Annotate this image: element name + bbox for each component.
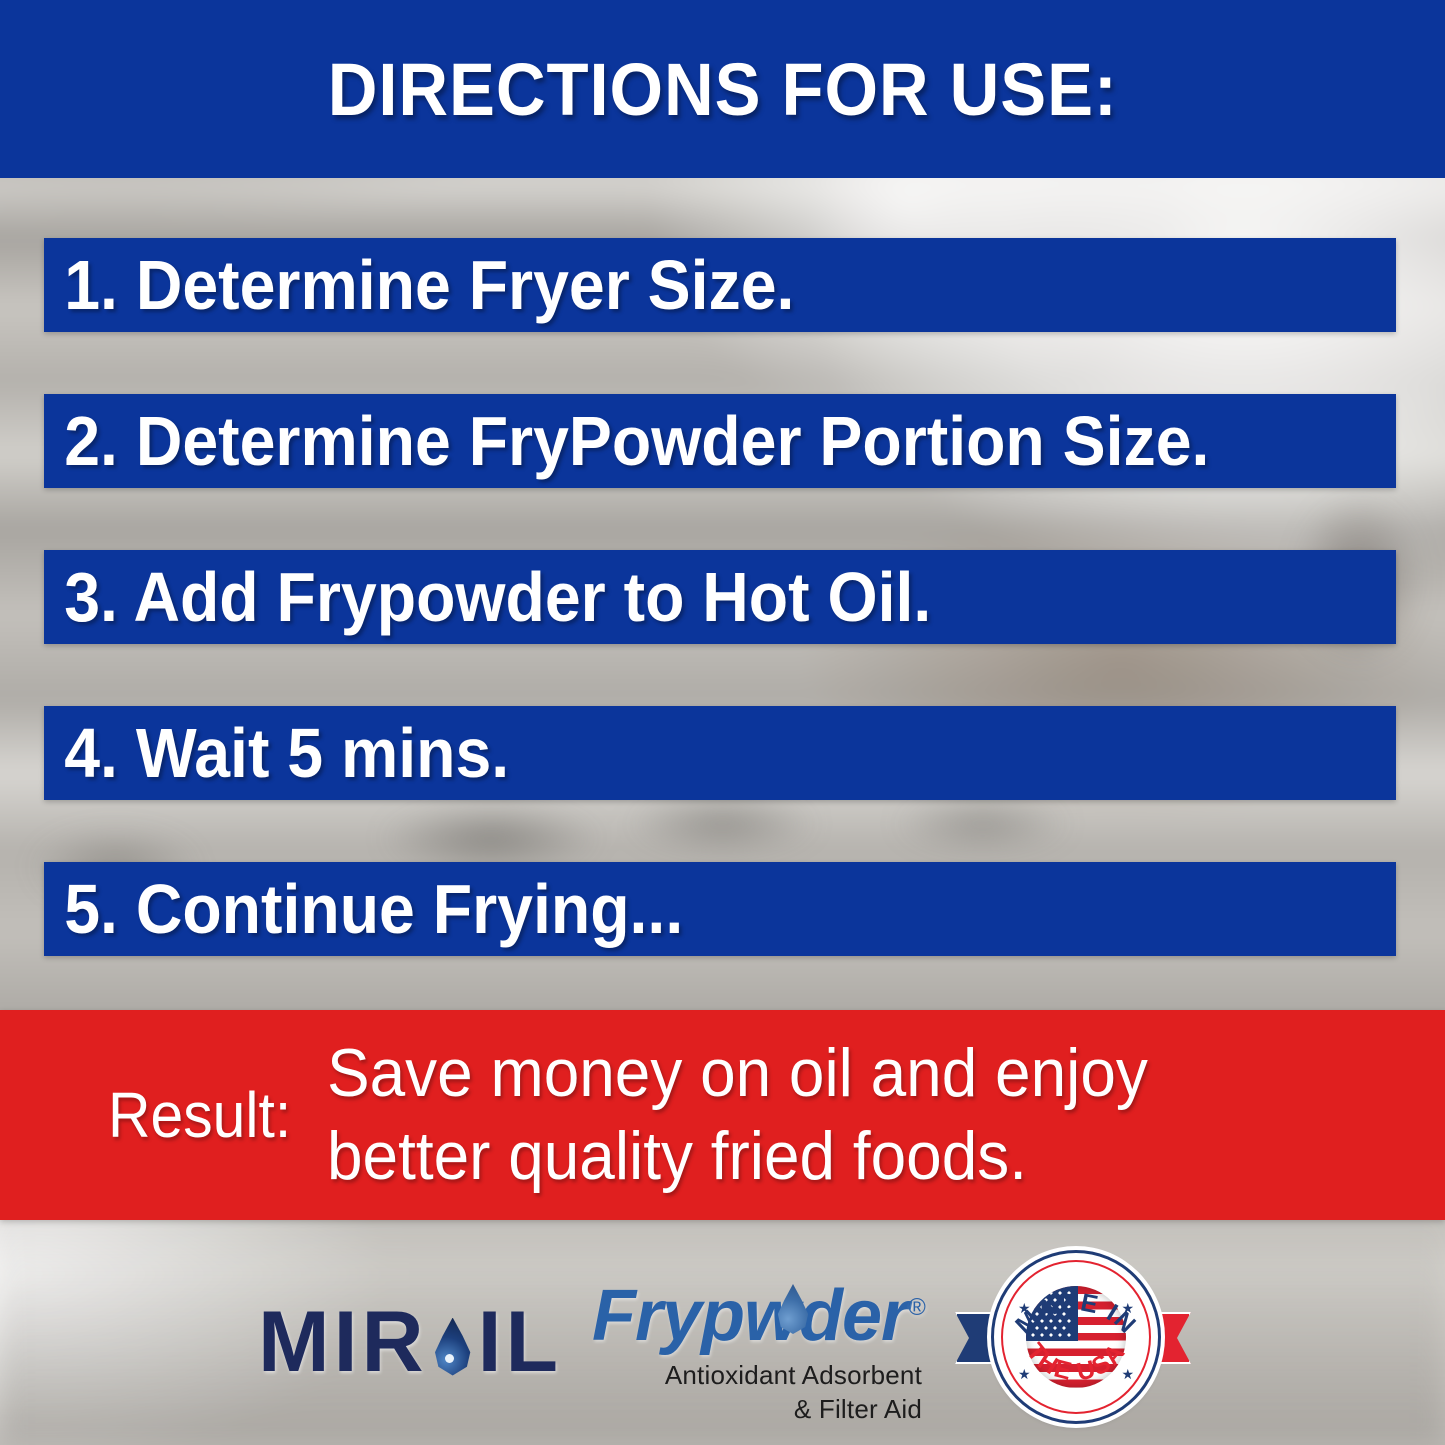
step-label-4: 4. Wait 5 mins. [44, 718, 509, 788]
frypowder-wordmark-part1: Fryp [592, 1276, 744, 1356]
footer-logos: MIR IL Frypwder® Antioxidant Adsorbent &… [0, 1220, 1445, 1445]
frypowder-logo: Frypwder® Antioxidant Adsorbent & Filter… [592, 1280, 922, 1426]
frypowder-tagline-line-1: Antioxidant Adsorbent [592, 1359, 922, 1392]
registered-trademark-symbol: ® [908, 1294, 925, 1321]
oil-droplet-icon [432, 1318, 474, 1376]
step-label-3: 3. Add Frypowder to Hot Oil. [44, 562, 931, 632]
miroil-logo: MIR IL [258, 1293, 562, 1392]
step-bar-5: 5. Continue Frying... [44, 862, 1396, 956]
miroil-logo-text-part1: MIR [258, 1293, 428, 1392]
frypowder-tagline-line-2: & Filter Aid [592, 1393, 922, 1426]
badge-bottom-text: THE USA [1021, 1338, 1131, 1387]
result-text-line-1: Save money on oil and enjoy [327, 1032, 1148, 1115]
step-label-2: 2. Determine FryPowder Portion Size. [44, 406, 1209, 476]
frypowder-wordmark-part2: wder [744, 1276, 908, 1356]
step-bar-3: 3. Add Frypowder to Hot Oil. [44, 550, 1396, 644]
miroil-logo-text-part2: IL [478, 1293, 562, 1392]
step-bar-2: 2. Determine FryPowder Portion Size. [44, 394, 1396, 488]
step-bar-1: 1. Determine Fryer Size. [44, 238, 1396, 332]
page-title: DIRECTIONS FOR USE: [327, 47, 1117, 132]
frypowder-tagline: Antioxidant Adsorbent & Filter Aid [592, 1359, 922, 1426]
result-text: Save money on oil and enjoy better quali… [327, 1032, 1200, 1198]
header-band: DIRECTIONS FOR USE: [0, 0, 1445, 178]
badge-arc-text: MADE IN THE USA [994, 1253, 1158, 1421]
result-label: Result: [108, 1078, 291, 1152]
steps-list: 1. Determine Fryer Size. 2. Determine Fr… [44, 238, 1396, 956]
badge-top-text: MADE IN [1010, 1288, 1142, 1340]
oil-droplet-icon [775, 1284, 811, 1334]
badge-seal: ★ ★ ★ ★ MADE IN THE USA [991, 1250, 1161, 1424]
step-bar-4: 4. Wait 5 mins. [44, 706, 1396, 800]
step-label-5: 5. Continue Frying... [44, 874, 683, 944]
poster-canvas: DIRECTIONS FOR USE: 1. Determine Fryer S… [0, 0, 1445, 1445]
result-band: Result: Save money on oil and enjoy bett… [0, 1010, 1445, 1220]
result-text-line-2: better quality fried foods. [327, 1115, 1148, 1198]
made-in-usa-badge: ★ ★ ★ ★ ★ ★ MA [955, 1250, 1191, 1420]
step-label-1: 1. Determine Fryer Size. [44, 250, 794, 320]
frypowder-wordmark: Frypwder® [592, 1280, 922, 1353]
